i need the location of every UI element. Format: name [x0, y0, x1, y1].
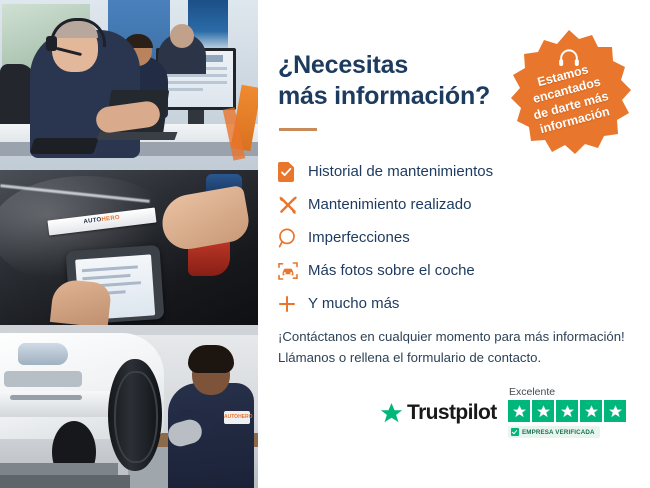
laptop-base: [97, 132, 178, 140]
front-wheel: [108, 359, 162, 471]
wheel-rim: [114, 371, 158, 463]
ruler-brand-hero: HERO: [101, 215, 120, 223]
photo-collage: AUTOHERO: [0, 0, 258, 488]
bumper-chrome-trim: [10, 395, 82, 400]
trustpilot-logo[interactable]: Trustpilot: [380, 401, 497, 425]
technician-hair: [188, 345, 234, 373]
feature-list: Historial de mantenimientos Mantenimient…: [278, 155, 638, 320]
screen-row: [163, 81, 227, 84]
ruler-brand-auto: AUTO: [83, 217, 102, 225]
rating-label: Excelente: [508, 386, 650, 398]
headline-line-1: ¿Necesitas: [278, 50, 508, 81]
technician-wheel-inspection-photo: AUTOHERO: [0, 325, 258, 488]
feature-label: Imperfecciones: [308, 230, 410, 245]
tablet-row: [82, 265, 138, 272]
paragraph-line-2: Llámanos o rellena el formulario de cont…: [278, 347, 634, 368]
page-title: ¿Necesitas más información?: [278, 50, 508, 112]
trustpilot-wordmark: Trustpilot: [407, 401, 497, 425]
content-panel: ¿Necesitas más información? Estamos enca…: [258, 0, 650, 488]
star-filled: [556, 400, 578, 422]
feature-label: Historial de mantenimientos: [308, 164, 493, 179]
star-filled: [604, 400, 626, 422]
car-lift-base: [0, 475, 130, 488]
tablet-row: [82, 274, 130, 280]
check-icon: [511, 428, 519, 436]
trustpilot-star-icon: [380, 402, 403, 425]
feature-label: Más fotos sobre el coche: [308, 263, 475, 278]
badge-encantados: Estamos encantados de darte más informac…: [505, 28, 633, 156]
uniform-logo-text: AUTOHERO: [224, 414, 250, 420]
verified-badge: EMPRESA VERIFICADA: [508, 426, 600, 438]
star-filled: [532, 400, 554, 422]
plus-icon: [278, 293, 308, 315]
headline-underline: [279, 128, 317, 131]
feature-item-mantenimiento: Mantenimiento realizado: [278, 188, 638, 221]
trustpilot-rating: Excelente: [508, 386, 650, 441]
star-filled: [508, 400, 530, 422]
car-lift-arm: [0, 463, 118, 475]
car-focus-icon: [278, 260, 308, 282]
feature-item-historial: Historial de mantenimientos: [278, 155, 638, 188]
document-check-icon: [278, 161, 308, 183]
car-inspection-ruler-tablet-photo: AUTOHERO: [0, 170, 258, 325]
monitor-stand: [188, 110, 204, 124]
feature-item-imperfecciones: Imperfecciones: [278, 221, 638, 254]
car-grille: [4, 371, 82, 387]
agent-head-3: [170, 24, 194, 48]
feature-label: Mantenimiento realizado: [308, 197, 471, 212]
screen-row: [163, 74, 227, 77]
feature-label: Y mucho más: [308, 296, 399, 311]
uniform-logo-patch: AUTOHERO: [224, 411, 250, 424]
headline-line-2: más información?: [278, 81, 508, 112]
car-headlight: [18, 343, 68, 365]
paragraph-line-1: ¡Contáctanos en cualquier momento para m…: [278, 326, 634, 347]
verified-label: EMPRESA VERIFICADA: [522, 429, 595, 436]
star-rating: [508, 400, 650, 422]
contact-paragraph: ¡Contáctanos en cualquier momento para m…: [278, 326, 634, 369]
call-center-agents-photo: [0, 0, 258, 170]
desk-tablet: [29, 138, 98, 154]
star-filled: [580, 400, 602, 422]
magnifier-icon: [278, 227, 308, 249]
feature-item-fotos: Más fotos sobre el coche: [278, 254, 638, 287]
tools-cross-icon: [278, 194, 308, 216]
promo-banner: AUTOHERO: [0, 0, 650, 488]
trustpilot-block: Trustpilot Excelente: [380, 386, 650, 448]
feature-item-mucho-mas: Y mucho más: [278, 287, 638, 320]
